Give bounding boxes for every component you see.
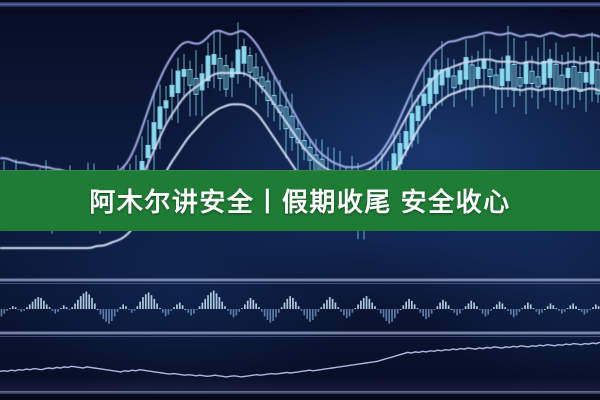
macd-histogram-series <box>1 291 600 324</box>
headline-text: 阿木尔讲安全丨假期收尾 安全收心 <box>89 182 510 219</box>
bottom-edge-shadow <box>0 396 600 400</box>
bottom-rail <box>0 391 600 394</box>
stock-chart-banner-image: 阿木尔讲安全丨假期收尾 安全收心 <box>0 0 600 400</box>
bottom-glow <box>0 377 600 391</box>
oscillator-line-series <box>0 342 600 377</box>
